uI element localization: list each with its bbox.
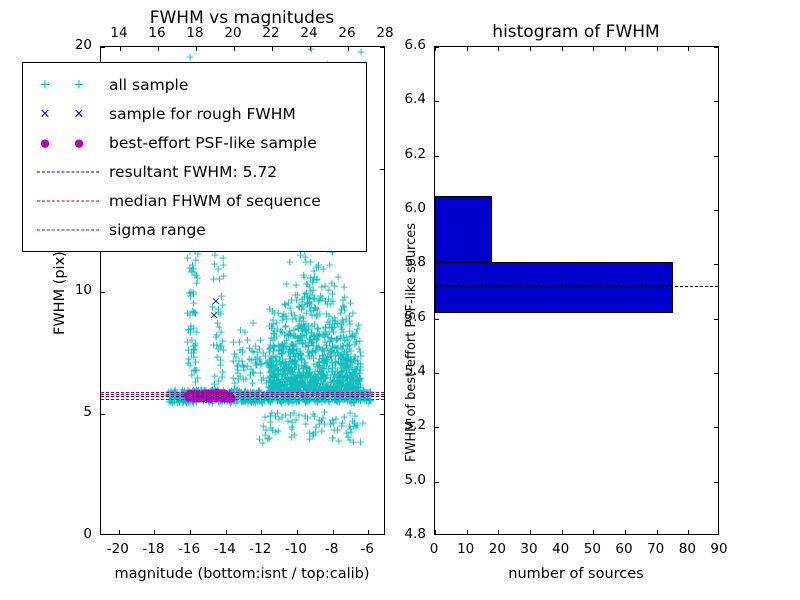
axis-tick-label: 24 xyxy=(300,25,317,41)
legend-item: median FHWM of sequence xyxy=(23,187,366,215)
axis-tick xyxy=(688,47,689,51)
data-point: + xyxy=(314,296,323,307)
axis-tick-label: 20 xyxy=(224,25,241,41)
axis-tick xyxy=(714,101,718,102)
axis-tick-label: 60 xyxy=(615,541,632,557)
axis-tick-label: 26 xyxy=(338,25,355,41)
legend: ++all sample××sample for rough FWHM●●bes… xyxy=(22,62,367,252)
axis-tick xyxy=(101,292,105,293)
axis-tick-label: -14 xyxy=(214,541,236,557)
axis-tick xyxy=(714,264,718,265)
left-xaxis-label: magnitude (bottom:isnt / top:calib) xyxy=(114,566,369,582)
right-chart-title: histogram of FWHM xyxy=(492,22,659,42)
legend-item-label: best-effort PSF-like sample xyxy=(109,134,317,152)
data-point: + xyxy=(299,322,308,333)
data-point: + xyxy=(255,356,264,367)
axis-tick-label: 0 xyxy=(83,526,92,542)
data-point: + xyxy=(309,409,318,420)
axis-tick-label: 10 xyxy=(457,541,474,557)
axis-tick xyxy=(625,47,626,51)
axis-tick-label: 90 xyxy=(710,541,727,557)
left-yaxis-label: FWHM (pix) xyxy=(52,251,68,335)
legend-marker-icon: + xyxy=(74,79,85,92)
axis-tick xyxy=(498,47,499,51)
axis-tick xyxy=(467,47,468,51)
legend-line-swatch xyxy=(37,201,99,202)
axis-tick-label: 0 xyxy=(430,541,439,557)
data-point: + xyxy=(339,282,348,293)
legend-item-label: resultant FWHM: 5.72 xyxy=(109,163,277,181)
axis-tick xyxy=(297,530,298,534)
axis-tick xyxy=(380,414,384,415)
sigma-range-upper-line xyxy=(101,392,384,393)
axis-tick-label: 6.6 xyxy=(405,37,426,53)
axis-tick-label: 6.2 xyxy=(405,146,426,162)
data-point: + xyxy=(189,306,198,317)
axis-tick-label: 20 xyxy=(489,541,506,557)
data-point: + xyxy=(327,278,336,289)
legend-line-swatch xyxy=(37,172,99,173)
axis-tick xyxy=(498,530,499,534)
axis-tick xyxy=(190,530,191,534)
axis-tick-label: 6.0 xyxy=(405,200,426,216)
axis-tick xyxy=(154,530,155,534)
data-point: + xyxy=(261,424,270,435)
data-point: + xyxy=(340,358,349,369)
data-point: × xyxy=(211,296,220,307)
data-point: + xyxy=(236,371,245,382)
axis-tick xyxy=(714,427,718,428)
axis-tick xyxy=(625,530,626,534)
data-point: + xyxy=(356,47,365,57)
data-point: + xyxy=(248,318,257,329)
axis-tick-label: 10 xyxy=(75,282,92,298)
data-point: + xyxy=(291,290,300,301)
axis-tick xyxy=(435,427,439,428)
axis-tick-label: 6.4 xyxy=(405,91,426,107)
axis-tick xyxy=(714,482,718,483)
axis-tick-label: 5.0 xyxy=(405,472,426,488)
data-point: + xyxy=(334,436,343,447)
histogram-bar xyxy=(435,196,492,261)
axis-tick xyxy=(714,156,718,157)
legend-item: ●●best-effort PSF-like sample xyxy=(23,129,366,157)
axis-tick xyxy=(261,530,262,534)
data-point: + xyxy=(266,343,275,354)
legend-marker-icon: × xyxy=(74,108,85,121)
axis-tick xyxy=(435,47,439,48)
axis-tick-label: 70 xyxy=(647,541,664,557)
right-chart-plot-area xyxy=(435,47,718,534)
data-point: + xyxy=(277,339,286,350)
axis-tick xyxy=(435,373,439,374)
data-point: + xyxy=(215,274,224,285)
data-point: + xyxy=(282,279,291,290)
axis-tick xyxy=(530,530,531,534)
data-point: + xyxy=(183,253,192,264)
axis-tick xyxy=(714,210,718,211)
axis-tick xyxy=(467,530,468,534)
axis-tick xyxy=(657,530,658,534)
legend-item-label: all sample xyxy=(109,76,188,94)
data-point: + xyxy=(349,352,358,363)
axis-tick xyxy=(226,530,227,534)
data-point: + xyxy=(340,412,349,423)
data-point: + xyxy=(288,375,297,386)
data-point: + xyxy=(267,408,276,419)
axis-tick xyxy=(120,47,121,51)
axis-tick-label: -20 xyxy=(107,541,129,557)
axis-tick xyxy=(688,530,689,534)
data-point: + xyxy=(348,308,357,319)
data-point: + xyxy=(332,396,341,407)
data-point: + xyxy=(272,318,281,329)
data-point: + xyxy=(312,274,321,285)
sigma-range-lower-line xyxy=(101,399,384,400)
legend-item: resultant FWHM: 5.72 xyxy=(23,158,366,186)
data-point: + xyxy=(301,252,310,263)
axis-tick xyxy=(714,373,718,374)
histogram-median-line xyxy=(435,286,718,287)
data-point: + xyxy=(331,413,340,424)
axis-tick xyxy=(714,47,718,48)
axis-tick-label: -10 xyxy=(285,541,307,557)
data-point: + xyxy=(183,358,192,369)
data-point: + xyxy=(320,406,329,417)
axis-tick xyxy=(380,292,384,293)
axis-tick-label: -18 xyxy=(142,541,164,557)
legend-item: ××sample for rough FWHM xyxy=(23,100,366,128)
axis-tick xyxy=(435,530,436,534)
axis-tick-label: 28 xyxy=(376,25,393,41)
data-point: + xyxy=(235,336,244,347)
axis-tick-label: 14 xyxy=(110,25,127,41)
data-point: + xyxy=(307,47,316,55)
resultant-fwhm-line xyxy=(101,396,384,397)
legend-item-label: median FHWM of sequence xyxy=(109,192,321,210)
data-point: + xyxy=(289,407,298,418)
axis-tick-label: 18 xyxy=(186,25,203,41)
axis-tick xyxy=(119,530,120,534)
axis-tick xyxy=(562,530,563,534)
data-point: + xyxy=(294,363,303,374)
axis-tick xyxy=(196,47,197,51)
axis-tick xyxy=(101,414,105,415)
axis-tick xyxy=(333,530,334,534)
data-point: + xyxy=(311,427,320,438)
right-xaxis-label: number of sources xyxy=(508,566,644,582)
data-point: + xyxy=(339,375,348,386)
histogram-bar xyxy=(435,262,673,314)
axis-tick-label: -16 xyxy=(178,541,200,557)
data-point: + xyxy=(274,379,283,390)
axis-tick-label: 40 xyxy=(552,541,569,557)
data-point: + xyxy=(185,51,194,62)
legend-item: ++all sample xyxy=(23,71,366,99)
axis-tick-label: -8 xyxy=(325,541,338,557)
data-point: + xyxy=(236,325,245,336)
data-point: + xyxy=(285,257,294,268)
axis-tick xyxy=(435,101,439,102)
legend-item-label: sigma range xyxy=(109,221,206,239)
axis-tick xyxy=(368,530,369,534)
legend-marker-icon: × xyxy=(40,108,51,121)
right-chart-axes xyxy=(434,46,719,535)
axis-tick-label: -12 xyxy=(249,541,271,557)
data-point: + xyxy=(313,378,322,389)
axis-tick-label: 20 xyxy=(75,37,92,53)
legend-marker-icon: ● xyxy=(74,137,84,150)
legend-marker-icon: ● xyxy=(40,137,50,150)
axis-tick xyxy=(380,169,384,170)
data-point: + xyxy=(209,340,218,351)
data-point: + xyxy=(218,366,227,377)
axis-tick-label: 30 xyxy=(520,541,537,557)
data-point: + xyxy=(344,431,353,442)
data-point: + xyxy=(319,354,328,365)
data-point: + xyxy=(186,324,195,335)
axis-tick xyxy=(657,47,658,51)
axis-tick xyxy=(158,47,159,51)
data-point: + xyxy=(191,337,200,348)
axis-tick xyxy=(101,47,105,48)
data-point: + xyxy=(312,262,321,273)
axis-tick xyxy=(348,47,349,51)
legend-marker-icon: + xyxy=(40,79,51,92)
data-point: + xyxy=(303,298,312,309)
axis-tick xyxy=(435,156,439,157)
right-yaxis-label: FWHM of best-effort PSF-like sources xyxy=(404,223,419,462)
axis-tick-label: -6 xyxy=(360,541,373,557)
axis-tick-label: 16 xyxy=(148,25,165,41)
legend-item-label: sample for rough FWHM xyxy=(109,105,296,123)
axis-tick xyxy=(234,47,235,51)
axis-tick-label: 50 xyxy=(584,541,601,557)
data-point: + xyxy=(339,294,348,305)
axis-tick xyxy=(562,47,563,51)
data-point: + xyxy=(356,437,365,448)
axis-tick xyxy=(593,47,594,51)
axis-tick-label: 22 xyxy=(262,25,279,41)
axis-tick xyxy=(714,319,718,320)
axis-tick xyxy=(272,47,273,51)
data-point: + xyxy=(358,418,367,429)
data-point: + xyxy=(259,372,268,383)
legend-item: sigma range xyxy=(23,216,366,244)
data-point: + xyxy=(193,373,202,384)
axis-tick-label: 80 xyxy=(679,541,696,557)
legend-line-swatch xyxy=(37,230,99,231)
axis-tick xyxy=(380,47,384,48)
axis-tick xyxy=(593,530,594,534)
median-fwhm-line xyxy=(101,394,384,395)
data-point: × xyxy=(210,309,219,320)
axis-tick xyxy=(435,319,439,320)
axis-tick-label: 5 xyxy=(83,404,92,420)
data-point: + xyxy=(325,327,334,338)
data-point: + xyxy=(312,334,321,345)
axis-tick xyxy=(435,482,439,483)
data-point: + xyxy=(265,303,274,314)
data-point: + xyxy=(297,334,306,345)
axis-tick xyxy=(530,47,531,51)
axis-tick-label: 4.8 xyxy=(405,526,426,542)
data-point: + xyxy=(353,324,362,335)
